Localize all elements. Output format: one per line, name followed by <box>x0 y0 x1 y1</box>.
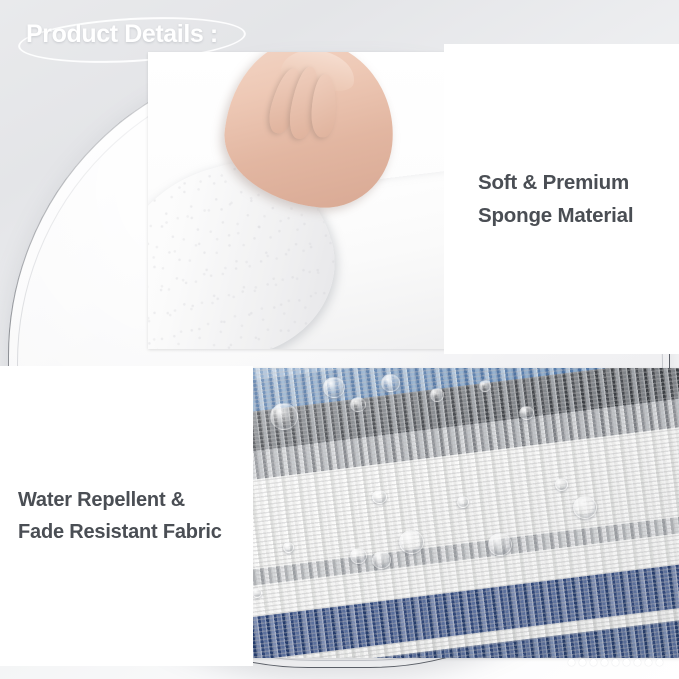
water-droplet <box>372 490 387 504</box>
water-droplet <box>350 397 366 412</box>
title-text: Product Details : <box>26 20 218 49</box>
water-droplet <box>372 551 391 569</box>
carousel-dot[interactable] <box>568 659 575 666</box>
water-droplet <box>381 374 400 392</box>
carousel-dot[interactable] <box>645 659 652 666</box>
caption-line: Water Repellent & <box>18 484 253 516</box>
caption-line: Soft & Premium <box>478 166 679 199</box>
product-details-image: Product Details : <box>0 0 679 679</box>
water-droplet <box>479 380 491 392</box>
carousel-dot[interactable] <box>656 659 663 666</box>
fabric-photo <box>234 368 679 658</box>
water-droplet <box>323 377 345 398</box>
fabric-weave-overlay <box>234 368 679 658</box>
carousel-dots[interactable] <box>568 659 663 666</box>
carousel-dot[interactable] <box>590 659 597 666</box>
water-droplet <box>350 548 367 564</box>
caption-line: Sponge Material <box>478 199 679 232</box>
caption-card-sponge: Soft & Premium Sponge Material <box>444 44 679 354</box>
carousel-dot[interactable] <box>612 659 619 666</box>
carousel-dot[interactable] <box>634 659 641 666</box>
foam-photo <box>148 52 448 349</box>
fabric-weave <box>234 368 679 658</box>
carousel-dot[interactable] <box>623 659 630 666</box>
caption-card-fabric: Water Repellent & Fade Resistant Fabric <box>0 366 253 666</box>
water-droplet <box>270 403 298 430</box>
water-droplet <box>283 542 294 553</box>
water-droplet <box>573 496 597 519</box>
caption-line: Fade Resistant Fabric <box>18 516 253 548</box>
water-droplet <box>457 496 469 508</box>
carousel-dot[interactable] <box>579 659 586 666</box>
carousel-dot[interactable] <box>601 659 608 666</box>
